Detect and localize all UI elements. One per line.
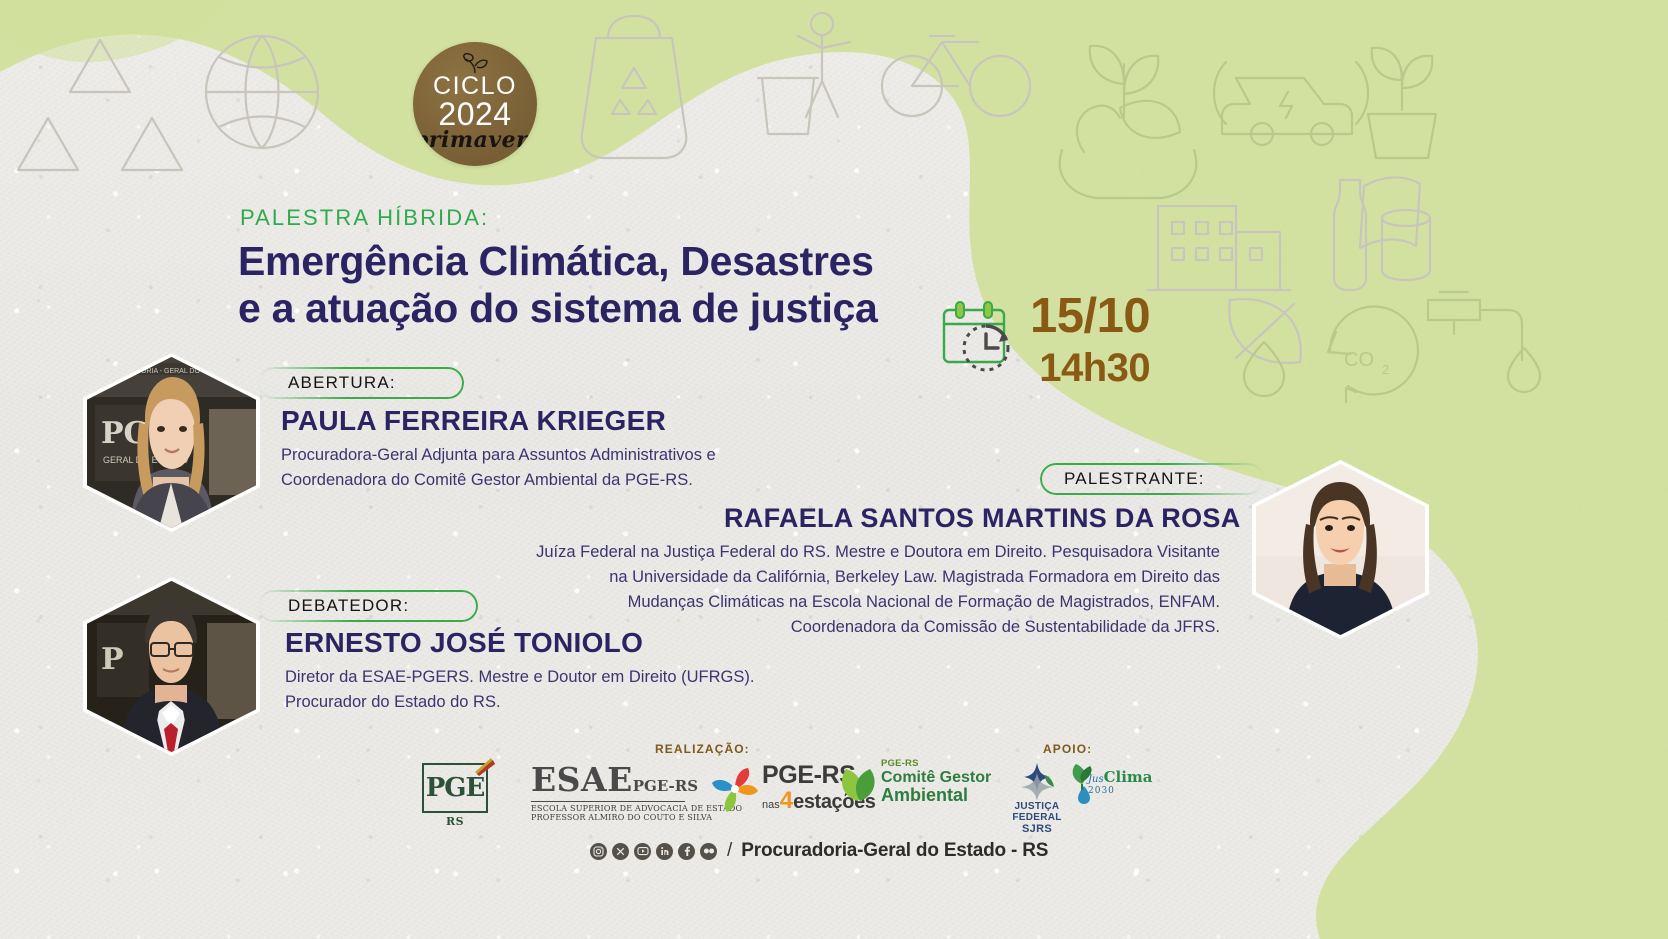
green-leaves-icon — [838, 757, 878, 805]
flickr-icon[interactable] — [700, 843, 717, 860]
abertura-label-pill: ABERTURA: — [258, 367, 464, 399]
jusclima-clima-text: Clima — [1104, 768, 1153, 786]
social-bar: / Procuradoria-Geral do Estado - RS — [590, 840, 1048, 862]
leaf-sprout-icon — [1120, 101, 1180, 138]
jf-line-1: JUSTIÇA — [1000, 801, 1074, 812]
justica-federal-star-icon — [1017, 763, 1057, 801]
jf-line-2: FEDERAL — [1000, 812, 1074, 823]
palestrante-desc-line-4: Coordenadora da Comissão de Sustentabili… — [480, 615, 1220, 640]
esae-sub-text: PGE-RS — [633, 777, 698, 795]
globe-icon — [206, 36, 318, 148]
palestrante-desc-line-1: Juíza Federal na Justiça Federal do RS. … — [480, 540, 1220, 565]
pgers4-nas-text: nas — [762, 799, 780, 811]
comite-ambiental-text: Ambiental — [881, 786, 991, 805]
abertura-speaker-desc: Procuradora-Geral Adjunta para Assuntos … — [281, 443, 801, 493]
apoio-label: APOIO: — [1043, 742, 1092, 756]
comite-top-text: PGE-RS — [881, 758, 991, 769]
electric-car-icon — [1214, 62, 1368, 145]
logo-justica-federal: JUSTIÇA FEDERAL SJRS — [1000, 763, 1074, 835]
debatedor-desc-line-2: Procurador do Estado do RS. — [285, 690, 805, 715]
potted-plant-icon — [1368, 48, 1436, 158]
facebook-icon[interactable] — [678, 843, 695, 860]
abertura-speaker-name: PAULA FERREIRA KRIEGER — [281, 405, 666, 437]
palestrante-label: PALESTRANTE: — [1064, 469, 1205, 489]
debatedor-label: DEBATEDOR: — [288, 596, 409, 616]
esae-line-1: ESCOLA SUPERIOR DE ADVOCACIA DE ESTADO — [531, 804, 742, 813]
palestrante-desc-line-2: na Universidade da Califórnia, Berkeley … — [480, 565, 1220, 590]
realizacao-label: REALIZAÇÃO: — [655, 742, 750, 756]
svg-text:2: 2 — [1382, 362, 1389, 377]
pge-mark-text: PGE — [426, 773, 485, 803]
title-line-2: e a atuação do sistema de justiça — [238, 285, 998, 332]
event-date: 15/10 — [1030, 292, 1150, 341]
hand-plant-icon — [1060, 46, 1196, 198]
logo-pge: PGE RS — [422, 763, 488, 828]
svg-text:P: P — [101, 642, 124, 677]
logo-jusclima: Jus Clima 2030 — [1066, 768, 1153, 796]
pge-flag-icon — [475, 758, 495, 776]
debatedor-desc-line-1: Diretor da ESAE-PGERS. Mestre e Doutor e… — [285, 665, 805, 690]
social-separator: / — [727, 840, 732, 862]
co2-cycle-icon: CO 2 — [1328, 307, 1418, 402]
debatedor-desc: Diretor da ESAE-PGERS. Mestre e Doutor e… — [285, 665, 805, 715]
esae-divider — [531, 801, 685, 802]
svg-text:CO: CO — [1344, 349, 1374, 371]
plastic-bag-icon — [582, 16, 687, 158]
logo-comite-gestor-ambiental: PGE-RS Comitê Gestor Ambiental — [838, 757, 991, 805]
esae-main-text: ESAE — [531, 760, 633, 799]
page-title: Emergência Climática, Desastres e a atua… — [238, 238, 998, 332]
abertura-desc-line-2: Coordenadora do Comitê Gestor Ambiental … — [281, 468, 801, 493]
bottle-can-icon — [1334, 180, 1430, 290]
jusclima-leaf-drop-icon — [1064, 764, 1100, 804]
social-handle: Procuradoria-Geral do Estado - RS — [741, 840, 1048, 862]
esae-line-2: PROFESSOR ALMIRO DO COUTO E SILVA — [531, 813, 742, 822]
faucet-icon — [1428, 292, 1540, 392]
palestra-kicker: PALESTRA HÍBRIDA: — [240, 205, 489, 231]
pinwheel-seasons-icon — [712, 765, 758, 813]
jf-line-3: SJRS — [1000, 823, 1074, 835]
bicycle-icon — [882, 36, 1030, 116]
ciclo-badge: CICLO 2024 primavera — [413, 42, 537, 166]
event-poster: CO 2 CICLO 2024 primavera PALESTRA HÍBRI… — [0, 0, 1668, 939]
x-twitter-icon[interactable] — [612, 843, 629, 860]
water-drop-icon — [1244, 342, 1284, 396]
palestrante-name: RAFAELA SANTOS MARTINS DA ROSA — [724, 503, 1241, 534]
waste-disposal-icon — [758, 13, 850, 134]
debatedor-label-pill: DEBATEDOR: — [258, 590, 478, 622]
title-line-1: Emergência Climática, Desastres — [238, 238, 874, 284]
badge-year-text: 2024 — [413, 99, 537, 130]
youtube-icon[interactable] — [634, 843, 651, 860]
logo-esae: ESAE PGE-RS ESCOLA SUPERIOR DE ADVOCACIA… — [531, 760, 742, 822]
calendar-clock-icon — [936, 298, 1016, 376]
date-time-text: 15/10 14h30 — [1030, 292, 1150, 388]
linkedin-icon[interactable] — [656, 843, 673, 860]
abertura-label: ABERTURA: — [288, 373, 396, 393]
pge-mark: PGE — [422, 763, 488, 813]
pgers4-number-text: 4 — [780, 787, 793, 815]
event-datetime: 15/10 14h30 — [936, 292, 1150, 388]
comite-mid-text: Comitê Gestor — [881, 769, 991, 786]
palestrante-desc-line-3: Mudanças Climáticas na Escola Nacional d… — [480, 590, 1220, 615]
abertura-desc-line-1: Procuradora-Geral Adjunta para Assuntos … — [281, 443, 801, 468]
recycle-icon — [18, 40, 182, 170]
palestrante-desc: Juíza Federal na Justiça Federal do RS. … — [480, 540, 1220, 640]
city-buildings-icon — [1148, 206, 1290, 290]
pge-rs-text: RS — [422, 815, 488, 828]
leaf-icon — [1229, 299, 1300, 363]
event-time: 14h30 — [1030, 348, 1150, 388]
palestrante-label-pill: PALESTRANTE: — [1040, 463, 1264, 495]
instagram-icon[interactable] — [590, 843, 607, 860]
